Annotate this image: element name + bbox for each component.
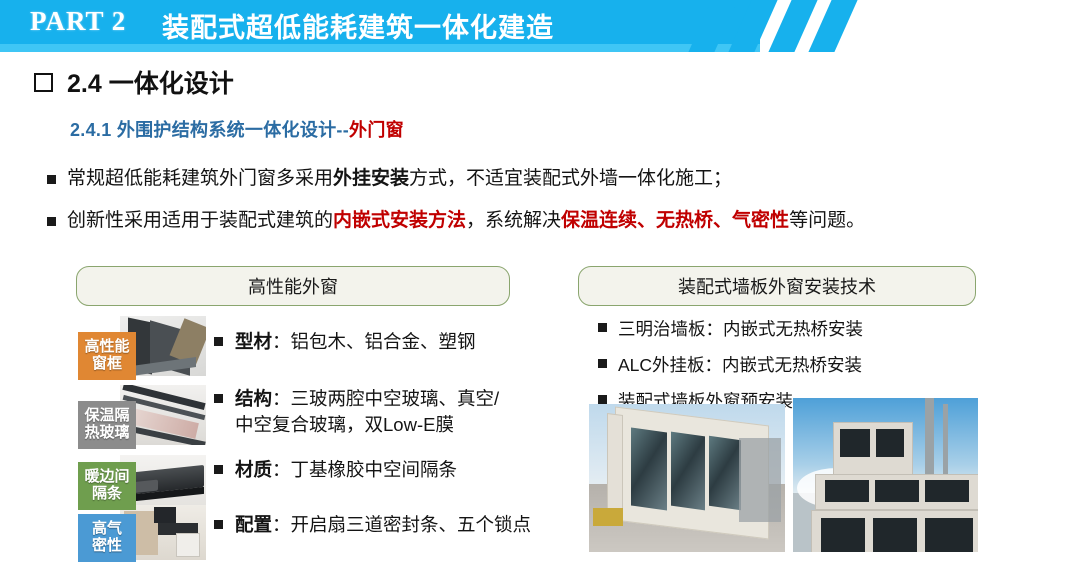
- left-item-4: 配置：开启扇三道密封条、五个锁点: [214, 512, 531, 538]
- badge-high-performance-frame: 高性能 窗框: [78, 332, 136, 380]
- list-item: ALC外挂板：内嵌式无热桥安装: [598, 352, 863, 377]
- left-item-2-text: 结构：三玻两腔中空玻璃、真空/中空复合玻璃，双Low-E膜: [235, 386, 499, 439]
- header-stripes: [700, 0, 1080, 52]
- square-bullet-icon: [34, 73, 53, 92]
- left-item-2: 结构：三玻两腔中空玻璃、真空/中空复合玻璃，双Low-E膜: [214, 386, 499, 439]
- badge-insulating-glass: 保温隔 热玻璃: [78, 401, 136, 449]
- right-panel-caption: 装配式墙板外窗安装技术: [578, 266, 976, 306]
- badge-line: 密性: [92, 538, 122, 555]
- badge-line: 高气: [92, 521, 122, 538]
- badge-warm-edge-spacer: 暖边间 隔条: [78, 462, 136, 510]
- section-heading-text: 2.4 一体化设计: [67, 64, 234, 100]
- left-panel-caption: 高性能外窗: [76, 266, 510, 306]
- list-item: 三明治墙板：内嵌式无热桥安装: [598, 316, 863, 341]
- part-title: 装配式超低能耗建筑一体化建造: [162, 6, 554, 45]
- subsection-heading-highlight: 外门窗: [349, 120, 404, 140]
- left-item-3: 材质：丁基橡胶中空间隔条: [214, 457, 457, 483]
- badge-line: 窗框: [92, 356, 122, 373]
- badge-line: 高性能: [84, 339, 129, 356]
- left-item-3-text: 材质：丁基橡胶中空间隔条: [235, 457, 457, 483]
- badge-line: 暖边间: [84, 469, 129, 486]
- square-bullet-icon: [214, 465, 223, 474]
- body-bullet-1: 常规超低能耗建筑外门窗多采用外挂安装方式，不适宜装配式外墙一体化施工；: [47, 166, 732, 192]
- part-label: PART 2: [30, 6, 126, 37]
- square-bullet-icon: [47, 175, 56, 184]
- section-heading: 2.4 一体化设计: [34, 64, 234, 100]
- left-item-4-text: 配置：开启扇三道密封条、五个锁点: [235, 512, 531, 538]
- left-item-1: 型材：铝包木、铝合金、塑钢: [214, 329, 476, 355]
- left-item-1-text: 型材：铝包木、铝合金、塑钢: [235, 329, 476, 355]
- square-bullet-icon: [214, 337, 223, 346]
- square-bullet-icon: [214, 520, 223, 529]
- square-bullet-icon: [598, 323, 607, 332]
- square-bullet-icon: [598, 359, 607, 368]
- square-bullet-icon: [598, 395, 607, 404]
- body-bullet-2-text: 创新性采用适用于装配式建筑的内嵌式安装方法，系统解决保温连续、无热桥、气密性等问…: [67, 208, 865, 234]
- badge-line: 隔条: [92, 486, 122, 503]
- square-bullet-icon: [214, 394, 223, 403]
- badge-line: 热玻璃: [84, 425, 129, 442]
- list-item-label: 三明治墙板：内嵌式无热桥安装: [618, 316, 863, 341]
- body-bullet-2: 创新性采用适用于装配式建筑的内嵌式安装方法，系统解决保温连续、无热桥、气密性等问…: [47, 208, 865, 234]
- list-item-label: ALC外挂板：内嵌式无热桥安装: [618, 352, 862, 377]
- subsection-heading-prefix: 2.4.1 外围护结构系统一体化设计--: [70, 120, 349, 140]
- square-bullet-icon: [47, 217, 56, 226]
- slide: PART 2 装配式超低能耗建筑一体化建造 2.4 一体化设计 2.4.1 外围…: [0, 0, 1080, 578]
- building-facade-installation-photo: [793, 398, 978, 552]
- body-bullet-1-text: 常规超低能耗建筑外门窗多采用外挂安装方式，不适宜装配式外墙一体化施工；: [67, 166, 732, 192]
- prefab-wall-panel-window-photo: [589, 404, 785, 552]
- badge-line: 保温隔: [84, 408, 129, 425]
- subsection-heading: 2.4.1 外围护结构系统一体化设计--外门窗: [70, 116, 404, 142]
- badge-airtightness: 高气 密性: [78, 514, 136, 562]
